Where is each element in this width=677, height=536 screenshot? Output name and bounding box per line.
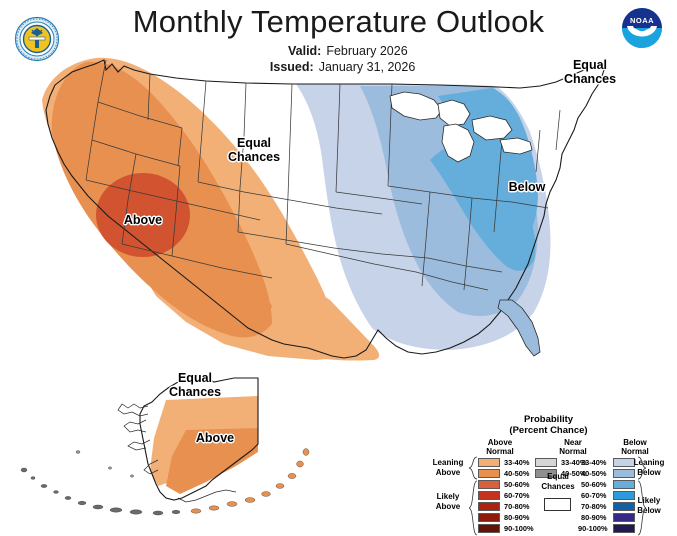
legend-pct-below-3: 60-70% <box>581 491 606 500</box>
legend-pct-below-1: 40-50% <box>581 469 606 478</box>
issued-row: Issued:January 31, 2026 <box>0 60 677 74</box>
page-title: Monthly Temperature Outlook <box>0 4 677 40</box>
legend-pct-above-6: 90-100% <box>504 524 534 533</box>
legend-swatch-above-5 <box>478 513 500 522</box>
legend-pct-above-2: 50-60% <box>504 480 529 489</box>
legend-swatch-near-0 <box>535 458 557 467</box>
legend-title-line2: (Percent Chance) <box>420 425 677 436</box>
legend-title-line1: Probability <box>420 414 677 425</box>
legend-swatch-above-1 <box>478 469 500 478</box>
brace-likely-below-icon <box>637 480 647 536</box>
legend-swatch-below-2 <box>613 480 635 489</box>
brace-leaning-above-icon <box>468 456 478 480</box>
legend-swatch-above-0 <box>478 458 500 467</box>
legend-likely-above-label: Likely Above <box>424 492 472 511</box>
legend-swatch-above-4 <box>478 502 500 511</box>
valid-row: Valid:February 2026 <box>0 44 677 58</box>
brace-likely-above-icon <box>468 480 478 536</box>
legend-swatch-equal-chances <box>544 498 571 511</box>
legend-pct-below-0: 33-40% <box>581 458 606 467</box>
legend-pct-below-2: 50-60% <box>581 480 606 489</box>
probability-legend: Probability (Percent Chance) Above Norma… <box>420 408 677 536</box>
legend-pct-below-4: 70-80% <box>581 502 606 511</box>
valid-label: Valid: <box>269 44 321 58</box>
legend-pct-below-5: 80-90% <box>581 513 606 522</box>
valid-value: February 2026 <box>326 44 407 58</box>
legend-swatch-above-6 <box>478 524 500 533</box>
legend-equal-chances-label: Equal Chances <box>536 472 580 491</box>
legend-swatch-above-3 <box>478 491 500 500</box>
outlook-map-page: Above Below Equal Chances Equal Chances … <box>0 0 677 536</box>
noaa-logo-icon: NOAA <box>620 6 664 50</box>
legend-pct-above-1: 40-50% <box>504 469 529 478</box>
legend-likely-below-label: Likely Below <box>625 496 673 515</box>
department-of-commerce-seal-icon <box>14 16 60 62</box>
legend-col-near-header: Near Normal <box>543 438 603 456</box>
legend-pct-above-4: 70-80% <box>504 502 529 511</box>
brace-leaning-below-icon <box>637 456 647 480</box>
legend-col-below-header: Below Normal <box>605 438 665 456</box>
issued-value: January 31, 2026 <box>319 60 416 74</box>
legend-leaning-above-label: Leaning Above <box>424 458 472 477</box>
noaa-logo-text: NOAA <box>630 16 654 25</box>
legend-swatch-below-6 <box>613 524 635 533</box>
legend-swatch-above-2 <box>478 480 500 489</box>
legend-leaning-below-label: Leaning Below <box>625 458 673 477</box>
legend-pct-above-0: 33-40% <box>504 458 529 467</box>
legend-pct-below-6: 90-100% <box>578 524 608 533</box>
legend-pct-above-3: 60-70% <box>504 491 529 500</box>
issued-label: Issued: <box>262 60 314 74</box>
alaska-inset <box>21 376 309 515</box>
legend-pct-above-5: 80-90% <box>504 513 529 522</box>
legend-col-above-header: Above Normal <box>470 438 530 456</box>
